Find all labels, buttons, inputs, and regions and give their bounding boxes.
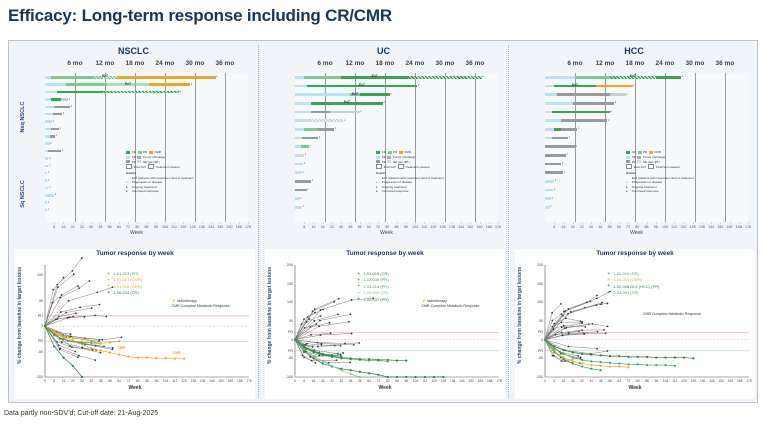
spider-background-point — [302, 354, 304, 356]
spider-background-point — [552, 355, 554, 357]
spider-series-point — [590, 360, 592, 362]
spider-notes: ⚡ radiotherapyCMR Complete Metabolic Res… — [171, 299, 229, 310]
legend-label: CMR — [154, 150, 161, 154]
spider-ytick-label: PR — [277, 349, 293, 353]
legend-label: PD — [132, 160, 136, 164]
spider-series-point — [377, 359, 379, 361]
swimmer-bar-segment — [117, 76, 216, 79]
spider-background-point — [312, 310, 314, 312]
swimmer-legend-row: CRPRCMR — [376, 150, 443, 154]
swimmer-bar-segment — [45, 179, 47, 182]
legend-marker-icon: + — [106, 291, 111, 296]
spider-background-point — [336, 359, 338, 361]
swimmer-month-header: 24 mo — [651, 60, 679, 67]
swimmer-event-marker: ▪ — [390, 93, 391, 96]
spider-background-point — [121, 336, 123, 338]
swimmer-event-marker: ▪ — [310, 145, 311, 148]
event-legend-label: EoT (patients with response): End of tre… — [382, 176, 444, 180]
spider-background-point — [603, 329, 605, 331]
swimmer-month-header: 18 mo — [371, 60, 399, 67]
spider-series-point — [405, 376, 407, 378]
spider-background-point — [68, 300, 70, 302]
swimmer-event-marker: ▪ — [319, 136, 320, 139]
legend-label: Tumor shrinkage — [643, 155, 665, 159]
swimmer-legend-row: CRPRCMR — [626, 150, 693, 154]
swimmer-bar-segment — [48, 150, 61, 153]
spider-ytick-label: 100 — [527, 300, 543, 304]
spider-series-point — [164, 357, 166, 359]
spider-background-point — [71, 270, 73, 272]
swimmer-event-marker: ▪ — [50, 142, 51, 145]
spider-series-point — [81, 341, 83, 343]
legend-marker-icon: + — [356, 284, 361, 289]
spider-ytick-label: PD — [277, 330, 293, 334]
swimmer-legend-row: CRPRCMR — [126, 150, 193, 154]
spider-series-point — [53, 334, 55, 336]
swimmer-bar-segment — [545, 128, 554, 131]
legend-marker-icon: + — [606, 278, 611, 283]
swimmer-bar-segment — [295, 137, 302, 140]
swimmer-month-header: 24 mo — [401, 60, 429, 67]
spider-notes: ⚡ radiotherapyCMR Complete Metabolic Res… — [421, 299, 479, 310]
spider-series-point — [655, 364, 657, 366]
spider-background-point — [61, 294, 63, 296]
spider-background-point — [561, 360, 563, 362]
swimmer-event-marker: ▪ — [312, 179, 313, 182]
spider-background-series — [45, 326, 113, 348]
swimmer-eot-label: EoT — [630, 75, 636, 78]
swimmer-bar-segment — [561, 128, 577, 131]
spider-legend-label: 1-02-037 (PR) — [363, 297, 388, 303]
swimmer-bar-segment — [545, 119, 561, 122]
swimmer-month-header: 18 mo — [121, 60, 149, 67]
spider-series-point — [331, 355, 333, 357]
swimmer-gridline — [445, 73, 446, 222]
spider-series-point — [562, 349, 564, 351]
panel-uc: UC 6 mo12 mo18 mo24 mo30 mo36 mo▸▸▪▪▪▪▪▪… — [259, 41, 508, 402]
swimmer-bar-segment — [545, 163, 561, 166]
event-legend-label: Continued response — [632, 189, 659, 193]
swimmer-event-marker: ▪ — [305, 153, 306, 156]
swimmer-event-marker: ▪ — [383, 101, 384, 104]
event-legend-label: EoT (patients with response): End of tre… — [632, 176, 694, 180]
spider-background-point — [78, 355, 80, 357]
spider-background-point — [349, 362, 351, 364]
spider-series-point — [562, 353, 564, 355]
swimmer-bar-segment — [103, 91, 179, 94]
spider-series-point — [100, 342, 102, 344]
swimmer-event-marker: ▪ — [48, 201, 49, 204]
spider-background-point — [330, 332, 332, 334]
swimmer-bar-segment — [545, 85, 554, 88]
spider-series-point — [312, 357, 314, 359]
spider-series-point — [377, 374, 379, 376]
spider-background-point — [313, 320, 315, 322]
spider-series-point — [100, 349, 102, 351]
swimmer-month-header: 12 mo — [341, 60, 369, 67]
spider-background-point — [94, 314, 96, 316]
spider-background-point — [319, 320, 321, 322]
spider-series-point — [109, 351, 111, 353]
swimmer-event-marker: ▪ — [69, 98, 70, 101]
swimmer-eot-label: EoT — [359, 84, 365, 87]
legend-swatch-pr — [138, 151, 142, 154]
swimmer-event-marker: ▪ — [300, 197, 301, 200]
event-legend-label: Continued response — [132, 189, 159, 193]
spider-series-point — [72, 337, 74, 339]
swimmer-event-marker: ▸ — [418, 84, 420, 87]
legend-swatch-post-sot — [126, 164, 132, 169]
spider-background-point — [318, 355, 320, 357]
spider-background-point — [55, 318, 57, 320]
swimmer-event-legend-row: ▸Ongoing treatment — [626, 185, 693, 189]
swimmer-bar-segment — [295, 76, 304, 79]
spider-background-series — [45, 313, 76, 326]
spider-series-point — [146, 357, 148, 359]
event-marker-icon: ▪ — [626, 180, 630, 184]
swimmer-bar-segment — [596, 85, 633, 88]
spider-ytick-label: 100 — [27, 273, 43, 277]
swimmer-bar-segment — [45, 106, 54, 109]
legend-marker-icon: + — [356, 278, 361, 283]
spider-background-point — [577, 355, 579, 357]
spider-series-point — [81, 338, 83, 340]
legend-swatch-cr — [376, 151, 380, 154]
spider-background-point — [601, 302, 603, 304]
swimmer-bar-segment — [545, 102, 573, 105]
swimmer-bar-segment — [45, 187, 48, 190]
spider-series-point — [340, 369, 342, 371]
spider-series-point — [303, 348, 305, 350]
spider-ytick-label: PD — [27, 314, 43, 318]
legend-swatch-ne-per-irt- — [137, 160, 141, 163]
swimmer-bar-segment — [45, 209, 47, 212]
legend-swatch-tumor-shrinkage — [387, 156, 391, 159]
swimmer-bar-segment — [149, 83, 191, 86]
spider-series-point — [396, 376, 398, 378]
event-legend-label: Ongoing treatment — [382, 185, 407, 189]
spider-background-point — [553, 323, 555, 325]
swimmer-legend: CRPRCMRSDTumor shrinkagePDNE (per iRT)Po… — [376, 150, 443, 193]
swimmer-event-marker: ▸ — [217, 75, 219, 78]
spider-annotation-cmr: CMR — [173, 351, 181, 355]
panel-hcc: HCC 6 mo12 mo18 mo24 mo30 mo36 mo▸▸▪▪▸▪▪… — [509, 41, 759, 402]
spider-background-point — [94, 359, 96, 361]
legend-marker-icon: + — [106, 284, 111, 289]
spider-series-point — [405, 359, 407, 361]
legend-swatch-tumor-shrinkage — [637, 156, 641, 159]
spider-background-point — [586, 301, 588, 303]
swimmer-event-marker: ▪ — [562, 162, 563, 165]
spider-plot-uc: Tumor response by week20015010050PD0PR-5… — [265, 249, 505, 399]
swimmer-month-header: 6 mo — [561, 60, 589, 67]
spider-background-point — [328, 362, 330, 364]
swimmer-event-marker: ▸ — [483, 75, 485, 78]
spider-note-cmr-only: CMR Complete Metabolic Response — [643, 312, 701, 317]
spider-series-point — [544, 339, 546, 341]
spider-legend: +1-02-010 (CR)+1-05-014 (CMR)+1-02-006 D… — [606, 271, 659, 297]
legend-marker-icon: + — [606, 284, 611, 289]
legend-label: PR — [143, 150, 147, 154]
spider-ytick-label: -50 — [27, 350, 43, 354]
spider-series-point — [618, 365, 620, 367]
swimmer-xaxis-label: Week — [519, 230, 754, 236]
spider-series-point — [62, 338, 64, 340]
spider-legend-row: +2-03-001 (CR) — [606, 290, 659, 296]
swimmer-gridline — [665, 73, 666, 222]
spider-series-point — [72, 365, 74, 367]
swimmer-bar-segment — [610, 93, 626, 96]
swimmer-month-header: 30 mo — [431, 60, 459, 67]
swimmer-bar-segment — [61, 98, 68, 101]
legend-label: SD — [632, 155, 636, 159]
spider-series-point — [183, 358, 185, 360]
spider-background-point — [74, 351, 76, 353]
event-marker-icon: ▸ — [126, 189, 130, 193]
swimmer-bar-segment — [51, 98, 61, 101]
spider-xaxis-label: Week — [265, 385, 505, 391]
spider-series-point — [62, 357, 64, 359]
swimmer-month-header: 12 mo — [91, 60, 119, 67]
swimmer-bar-segment — [51, 76, 94, 79]
spider-background-point — [84, 316, 86, 318]
spider-background-point — [312, 346, 314, 348]
swimmer-bar-segment — [302, 119, 344, 122]
spider-background-series — [295, 313, 315, 340]
swimmer-event-marker: ▪ — [60, 127, 61, 130]
legend-swatch-pd — [376, 160, 380, 163]
spider-background-point — [329, 322, 331, 324]
spider-series-point — [350, 357, 352, 359]
legend-swatch-post-sot — [376, 164, 382, 169]
swimmer-bar-segment — [311, 111, 329, 114]
swimmer-gridline — [75, 73, 76, 222]
swimmer-month-header: 30 mo — [181, 60, 209, 67]
spider-series-point — [174, 358, 176, 360]
swimmer-bar-segment — [50, 135, 56, 138]
swimmer-xaxis-label: Week — [19, 230, 254, 236]
swimmer-gridline — [135, 73, 136, 222]
spider-background-point — [351, 333, 353, 335]
swimmer-event-marker: ▪ — [55, 193, 56, 196]
event-marker-icon: ▪ — [376, 180, 380, 184]
event-marker-icon: ▸ — [126, 185, 130, 189]
legend-label: Post-SoT — [384, 165, 397, 169]
swimmer-event-marker: ▪ — [49, 164, 50, 167]
spider-series-point — [600, 354, 602, 356]
swimmer-bar-segment — [545, 171, 563, 174]
swimmer-events-header: Events — [376, 171, 443, 175]
spider-background-point — [311, 360, 313, 362]
spider-ytick-label: PD — [527, 330, 543, 334]
spider-background-point — [52, 302, 54, 304]
swimmer-month-header: 36 mo — [711, 60, 739, 67]
swimmer-legend: CRPRCMRSDTumor shrinkagePDNE (per iRT)Po… — [626, 150, 693, 193]
event-legend-label: Ongoing treatment — [632, 185, 657, 189]
swimmer-bar-segment — [45, 165, 48, 168]
spider-background-point — [596, 294, 598, 296]
spider-series-point — [331, 365, 333, 367]
page-title: Efficacy: Long-term response including C… — [8, 6, 392, 26]
spider-ytick-label: 0 — [277, 338, 293, 342]
legend-label: Post-SoT — [634, 165, 647, 169]
spider-background-point — [337, 314, 339, 316]
swimmer-event-marker: ▪ — [344, 119, 345, 122]
spider-background-point — [77, 285, 79, 287]
spider-ytick-label: 0 — [527, 338, 543, 342]
spider-xtick-label: 176 — [493, 379, 505, 383]
swimmer-event-marker: ▪ — [49, 157, 50, 160]
spider-ytick-label: 50 — [527, 319, 543, 323]
spider-background-point — [605, 332, 607, 334]
swimmer-bar-segment — [554, 128, 561, 131]
spider-ytick-label: 200 — [527, 263, 543, 267]
spider-series-point — [322, 360, 324, 362]
swimmer-event-marker: ▪ — [48, 171, 49, 174]
event-marker-icon: ▸ — [376, 185, 380, 189]
swimmer-event-marker: ▪ — [71, 105, 72, 108]
swimmer-event-marker: ▪ — [335, 127, 336, 130]
legend-swatch-ne-per-irt- — [387, 160, 391, 163]
note-cmr: CMR Complete Metabolic Response — [421, 304, 479, 309]
spider-series-point — [442, 376, 444, 378]
legend-label: NE (per iRT) — [393, 160, 410, 164]
swimmer-plot-hcc: 6 mo12 mo18 mo24 mo30 mo36 mo▸▸▪▪▸▪▪▪▪▪▪… — [519, 59, 754, 244]
swimmer-bar-segment — [45, 157, 48, 160]
event-legend-label: Progression of disease — [132, 180, 163, 184]
swimmer-month-header: 6 mo — [61, 60, 89, 67]
spider-series-point — [72, 339, 74, 341]
spider-background-point — [340, 345, 342, 347]
spider-background-point — [59, 349, 61, 351]
legend-swatch-sd — [376, 156, 380, 159]
swimmer-bar-segment — [45, 194, 54, 197]
spider-series-point — [368, 358, 370, 360]
spider-series-point — [53, 330, 55, 332]
spider-background-series — [295, 333, 352, 339]
swimmer-eot-label: EoT — [344, 101, 350, 104]
swimmer-event-legend-row: ▪Progression of disease — [626, 180, 693, 184]
spider-background-point — [320, 309, 322, 311]
spider-xaxis-label: Week — [515, 385, 755, 391]
spider-background-point — [111, 348, 113, 350]
swimmer-gridline — [695, 73, 696, 222]
spider-series-point — [664, 364, 666, 366]
panel-nsclc: NSCLC 6 mo12 mo18 mo24 mo30 mo36 mo▸▸▸▪▪… — [9, 41, 258, 402]
swimmer-event-marker: ▪ — [564, 171, 565, 174]
spider-series-point — [387, 376, 389, 378]
spider-ytick-label: 0 — [27, 324, 43, 328]
spider-ytick-label: -50 — [277, 356, 293, 360]
spider-background-point — [580, 357, 582, 359]
spider-series-line — [45, 326, 184, 359]
spider-series-point — [600, 365, 602, 367]
spider-background-point — [65, 312, 67, 314]
swimmer-events-header: Events — [126, 171, 193, 175]
swimmer-bar-segment — [318, 128, 334, 131]
legend-swatch-sd — [626, 156, 630, 159]
swimmer-bar-segment — [330, 111, 360, 114]
swimmer-event-marker: ▪ — [303, 205, 304, 208]
swimmer-bar-segment — [295, 206, 302, 209]
swimmer-eot-label: EoT — [125, 83, 131, 86]
content-frame: NSCLC 6 mo12 mo18 mo24 mo30 mo36 mo▸▸▸▪▪… — [8, 40, 758, 403]
swimmer-event-legend-row: EoT (patients with response): End of tre… — [126, 176, 193, 180]
spider-series-point — [312, 355, 314, 357]
spider-series-point — [609, 365, 611, 367]
spider-series-point — [562, 358, 564, 360]
spider-background-point — [91, 307, 93, 309]
spider-background-point — [333, 301, 335, 303]
panel-title-hcc: HCC — [509, 46, 759, 56]
spider-background-point — [60, 311, 62, 313]
spider-background-point — [320, 334, 322, 336]
swimmer-xaxis-label: Week — [269, 230, 504, 236]
swimmer-legend: CRPRCMRSDTumor shrinkagePDNE (per iRT)Po… — [126, 150, 193, 193]
spider-legend-row: +1-02-037 (PR) — [356, 297, 389, 303]
swimmer-gridline — [415, 73, 416, 222]
spider-background-point — [338, 298, 340, 300]
spider-background-point — [78, 287, 80, 289]
spider-series-point — [118, 340, 120, 342]
spider-background-point — [81, 347, 83, 349]
spider-series-point — [600, 361, 602, 363]
spider-series-point — [627, 366, 629, 368]
swimmer-bar-segment — [545, 154, 566, 157]
spider-series-point — [340, 356, 342, 358]
swimmer-event-legend-row: ▸Ongoing treatment — [376, 185, 443, 189]
swimmer-event-marker: ▪ — [62, 149, 63, 152]
spider-series-point — [350, 373, 352, 375]
spider-series-point — [359, 358, 361, 360]
spider-background-point — [607, 326, 609, 328]
spider-series-point — [44, 325, 46, 327]
swimmer-month-header: 30 mo — [681, 60, 709, 67]
spider-series-point — [674, 356, 676, 358]
spider-background-point — [348, 321, 350, 323]
swimmer-event-marker: ▪ — [554, 188, 555, 191]
spider-series-point — [359, 371, 361, 373]
swimmer-bar-segment — [45, 172, 47, 175]
spider-series-point — [118, 354, 120, 356]
legend-label: Post-SoT — [134, 165, 147, 169]
spider-series-point — [62, 335, 64, 337]
spider-series-point — [572, 351, 574, 353]
legend-marker-icon: + — [106, 272, 111, 277]
spider-background-point — [551, 326, 553, 328]
spider-background-point — [77, 356, 79, 358]
swimmer-bar-segment — [66, 83, 108, 86]
spider-series-point — [368, 372, 370, 374]
spider-background-point — [73, 273, 75, 275]
spider-series-point — [646, 356, 648, 358]
swimmer-bar-segment — [295, 180, 311, 183]
spider-background-point — [89, 280, 91, 282]
swimmer-gridline — [105, 73, 106, 222]
spider-ytick-label: 50 — [277, 319, 293, 323]
swimmer-events-header: Events — [626, 171, 693, 175]
spider-series-point — [646, 364, 648, 366]
spider-series-point — [627, 356, 629, 358]
spider-yaxis-label: % change from baseline in target lesions — [267, 274, 273, 364]
swimmer-bar-segment — [545, 145, 575, 148]
spider-series-point — [127, 356, 129, 358]
swimmer-event-marker: ▪ — [555, 179, 556, 182]
spider-ytick-label: 50 — [27, 299, 43, 303]
spider-ytick-label: 150 — [277, 282, 293, 286]
swimmer-bar-segment — [51, 128, 59, 131]
legend-swatch-cmr — [399, 151, 403, 154]
